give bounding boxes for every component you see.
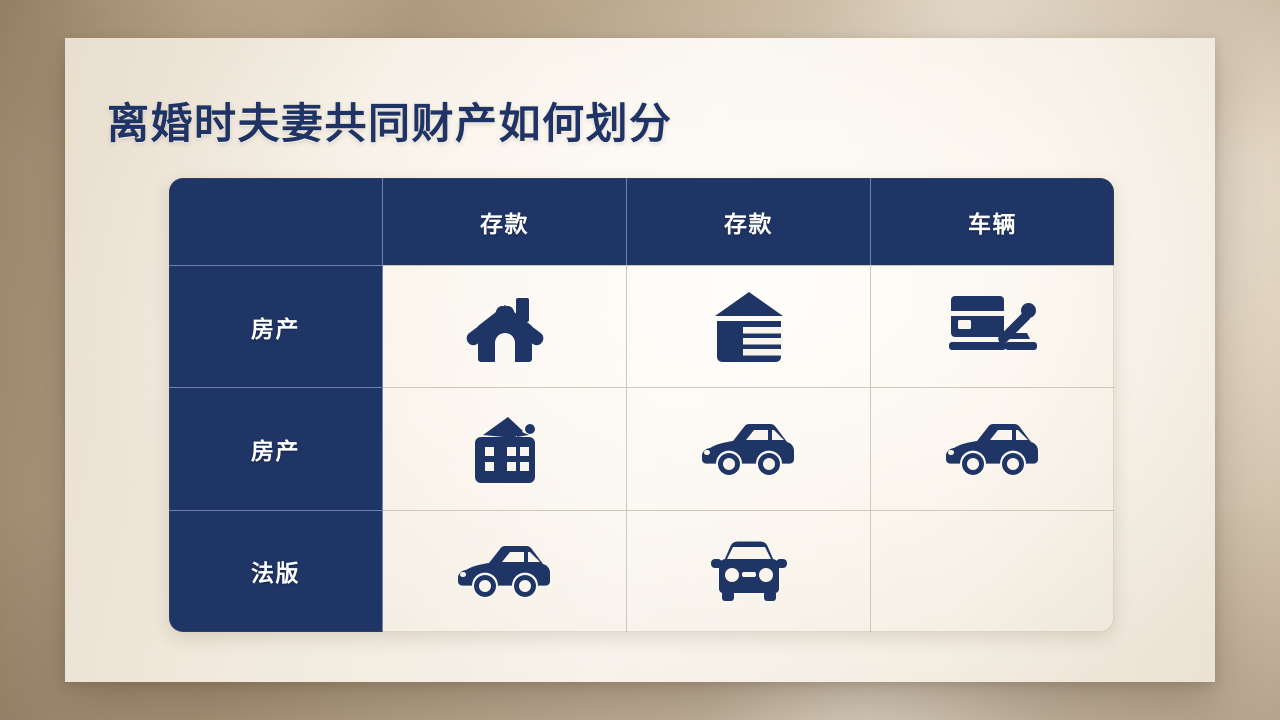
car-side-icon [456,540,554,602]
card-gavel-icon [947,293,1039,361]
column-header-label: 车辆 [968,205,1017,239]
row-header-1[interactable]: 房产 [169,265,383,387]
bank-building-icon [713,289,785,365]
table-cell-r1c1[interactable] [383,265,627,387]
apartment-building-icon [467,413,543,485]
column-header-2[interactable]: 存款 [627,178,871,265]
table-cell-r1c2[interactable] [627,265,871,387]
table-cell-r2c1[interactable] [383,387,627,509]
slide-card: 离婚时夫妻共同财产如何划分 存款 存款 车辆 房产 [65,38,1215,682]
table-cell-r3c3[interactable] [871,510,1114,632]
car-side-icon [700,418,798,480]
car-front-icon [709,537,789,605]
column-header-1[interactable]: 存款 [383,178,627,265]
page-title: 离婚时夫妻共同财产如何划分 [107,90,673,151]
table-row: 房产 [169,265,1114,387]
row-header-label: 房产 [251,310,300,344]
table-cell-r3c1[interactable] [383,510,627,632]
row-header-label: 法版 [251,554,300,588]
column-header-label: 存款 [724,205,773,239]
column-header-3[interactable]: 车辆 [871,178,1114,265]
row-header-label: 房产 [251,432,300,466]
table-row: 法版 [169,510,1114,632]
table-cell-r1c3[interactable] [871,265,1114,387]
house-icon [464,289,546,365]
table-header-row: 存款 存款 车辆 [169,178,1114,265]
table-cell-r2c3[interactable] [871,387,1114,509]
row-header-3[interactable]: 法版 [169,510,383,632]
slide-stage: 离婚时夫妻共同财产如何划分 存款 存款 车辆 房产 [0,0,1280,720]
car-side-icon [944,418,1042,480]
column-header-label: 存款 [480,205,529,239]
table-corner-cell [169,178,383,265]
property-division-table: 存款 存款 车辆 房产 [169,178,1114,632]
table-row: 房产 [169,387,1114,509]
row-header-2[interactable]: 房产 [169,387,383,509]
table-cell-r3c2[interactable] [627,510,871,632]
table-cell-r2c2[interactable] [627,387,871,509]
